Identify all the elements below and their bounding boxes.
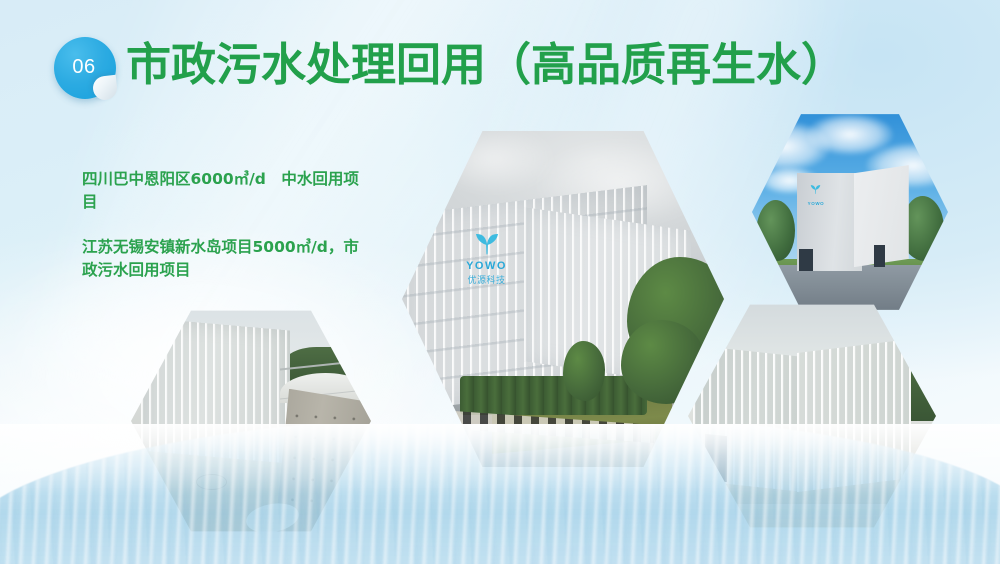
logo-wordmark-cn: 优源科技 — [454, 273, 520, 286]
sprout-icon — [454, 229, 520, 259]
sprout-icon — [809, 183, 822, 196]
company-logo: YOWO 优源科技 — [454, 229, 520, 286]
water-decoration — [0, 424, 1000, 564]
page-title: 市政污水处理回用（高品质再生水） — [126, 36, 846, 94]
tree-shape — [756, 200, 795, 261]
caption-item: 江苏无锡安镇新水岛项目5000㎥/d，市政污水回用项目 — [82, 236, 367, 282]
cloud-shape — [428, 124, 557, 194]
logo-wordmark-en: YOWO — [803, 201, 829, 206]
caption-item: 四川巴中恩阳区6000㎥/d 中水回用项目 — [82, 168, 367, 214]
entrance-door — [799, 249, 813, 271]
water-fade-overlay — [0, 424, 1000, 494]
photo-top-right-image: YOWO — [752, 110, 948, 314]
hedge-row — [460, 376, 647, 415]
logo-wordmark-en: YOWO — [454, 260, 520, 272]
photo-hexagon-top-right: YOWO — [752, 110, 948, 314]
photo-main-image: YOWO 优源科技 — [402, 124, 724, 474]
tree-shape — [563, 341, 605, 401]
company-logo: YOWO — [803, 183, 829, 206]
entrance-door — [874, 245, 886, 267]
tree-shape — [621, 320, 705, 404]
slide-canvas: 06 市政污水处理回用（高品质再生水） 四川巴中恩阳区6000㎥/d 中水回用项… — [0, 0, 1000, 564]
section-number-badge: 06 — [54, 37, 116, 99]
photo-hexagon-main: YOWO 优源科技 — [402, 124, 724, 474]
caption-list: 四川巴中恩阳区6000㎥/d 中水回用项目 江苏无锡安镇新水岛项目5000㎥/d… — [82, 168, 367, 282]
